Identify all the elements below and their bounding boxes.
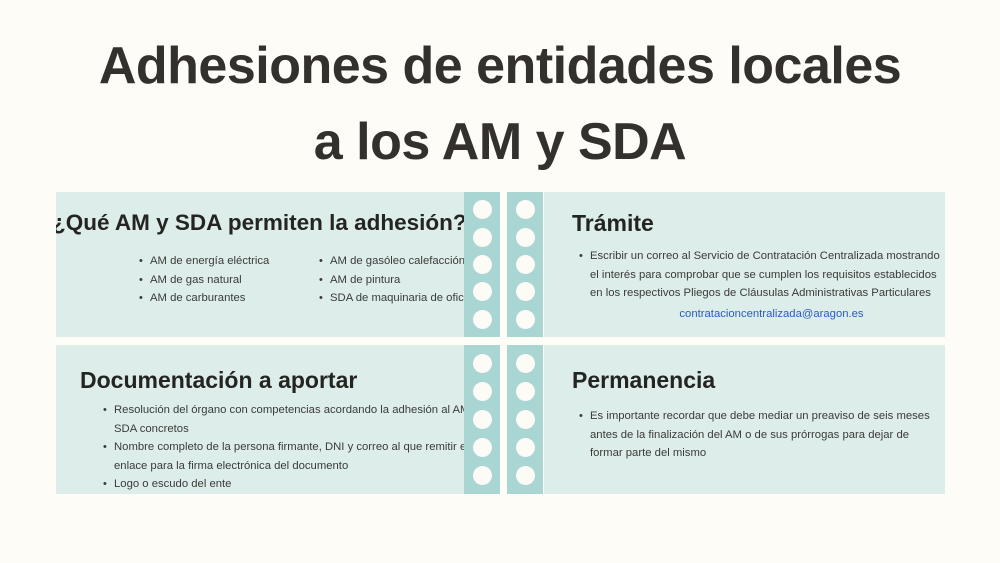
list-item: AM de energía eléctrica (150, 252, 330, 271)
dot-strip-top-left (464, 192, 500, 337)
bullet-list-am-column-1: AM de energía eléctrica AM de gas natura… (134, 252, 330, 308)
contact-email-link[interactable]: contratacioncentralizada@aragon.es (679, 308, 863, 320)
dot-icon (473, 438, 492, 457)
dot-icon (516, 466, 535, 485)
dot-icon (473, 200, 492, 219)
email-line: contratacioncentralizada@aragon.es (590, 305, 945, 324)
dot-icon (473, 382, 492, 401)
list-item: AM de gasóleo calefacción (330, 252, 464, 271)
dot-strip-top-right (507, 192, 543, 337)
list-item: AM de pintura (330, 271, 464, 290)
dot-icon (473, 466, 492, 485)
dot-icon (473, 310, 492, 329)
dot-icon (516, 310, 535, 329)
page-title: Adhesiones de entidades locales a los AM… (0, 28, 1000, 180)
bullet-list-tramite: Escribir un correo al Servicio de Contra… (574, 247, 945, 323)
list-item: Escribir un correo al Servicio de Contra… (590, 247, 945, 323)
dot-icon (516, 382, 535, 401)
dot-icon (516, 200, 535, 219)
dot-icon (516, 354, 535, 373)
bullet-list-am-column-2: AM de gasóleo calefacción AM de pintura … (314, 252, 464, 308)
dot-icon (516, 282, 535, 301)
dot-icon (473, 255, 492, 274)
dot-icon (473, 354, 492, 373)
panel-heading-permanencia: Permanencia (572, 367, 715, 393)
dot-strip-bottom-right (507, 345, 543, 494)
panel-heading-tramite: Trámite (572, 210, 654, 236)
dot-icon (473, 410, 492, 429)
bullet-list-documentacion: Resolución del órgano con competencias a… (98, 401, 464, 494)
panel-tramite: Trámite Escribir un correo al Servicio d… (544, 192, 945, 337)
panel-heading-que-am-y-sda: ¿Qué AM y SDA permiten la adhesión? (56, 210, 464, 236)
list-item: AM de gas natural (150, 271, 330, 290)
page-title-line-1: Adhesiones de entidades locales (0, 28, 1000, 104)
slide-canvas: Adhesiones de entidades locales a los AM… (0, 0, 1000, 563)
panel-permanencia: Permanencia Es importante recordar que d… (544, 345, 945, 494)
dot-icon (473, 228, 492, 247)
panel-documentacion-a-aportar: Documentación a aportar Resolución del ó… (56, 345, 464, 494)
dot-strip-bottom-left (464, 345, 500, 494)
dot-icon (516, 228, 535, 247)
bullet-list-permanencia: Es importante recordar que debe mediar u… (574, 407, 935, 463)
dot-icon (516, 255, 535, 274)
dot-icon (516, 438, 535, 457)
list-item: Logo o escudo del ente (114, 475, 464, 494)
list-item: Es importante recordar que debe mediar u… (590, 407, 935, 463)
list-item: Nombre completo de la persona firmante, … (114, 438, 464, 475)
dot-icon (473, 282, 492, 301)
dot-icon (516, 410, 535, 429)
panel-heading-documentacion: Documentación a aportar (80, 367, 357, 393)
list-item: SDA de maquinaria de oficina (330, 289, 464, 308)
panel-que-am-y-sda: ¿Qué AM y SDA permiten la adhesión? AM d… (56, 192, 464, 337)
list-item: Resolución del órgano con competencias a… (114, 401, 464, 438)
list-item: AM de carburantes (150, 289, 330, 308)
page-title-line-2: a los AM y SDA (0, 104, 1000, 180)
list-item-text: Escribir un correo al Servicio de Contra… (590, 250, 940, 299)
